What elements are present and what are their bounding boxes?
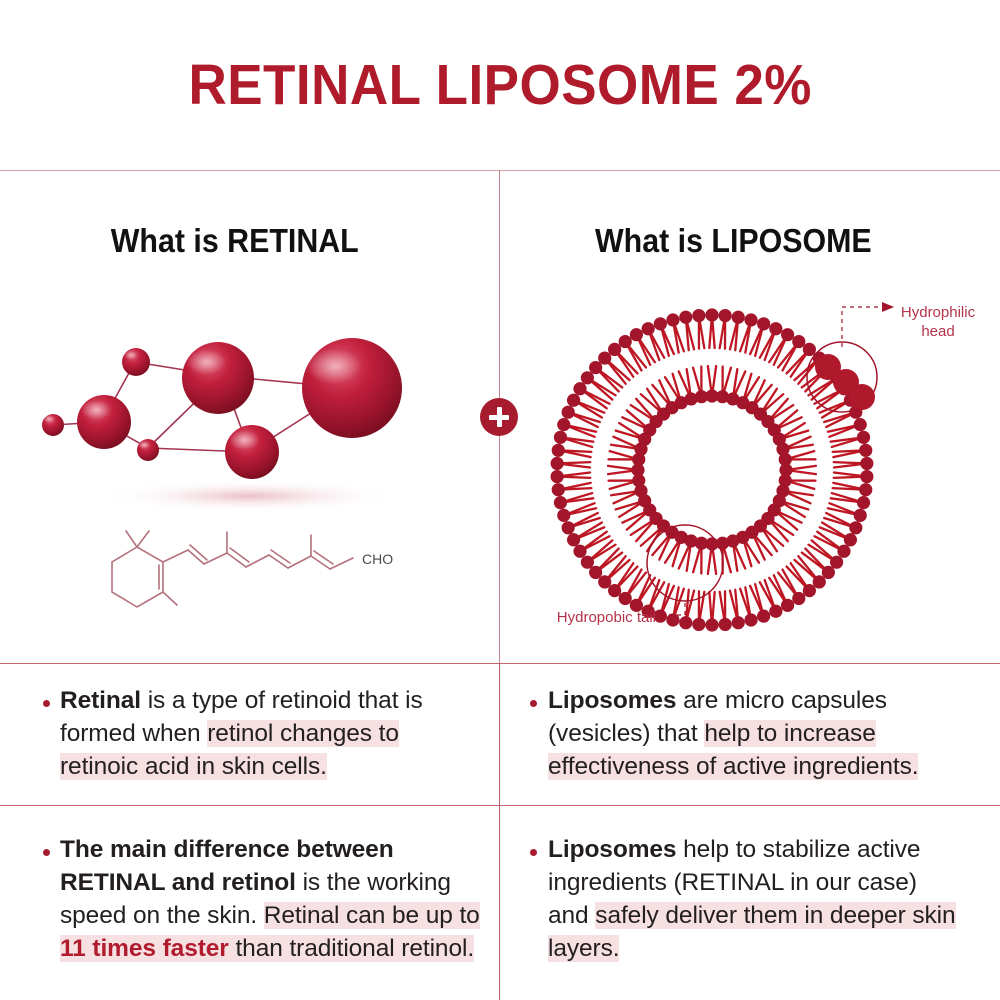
molecule-node-small-1 [42, 414, 64, 436]
retinal-chemical-structure: CHO [100, 520, 420, 615]
infographic-page: RETINAL LIPOSOME 2% What is RETINAL What… [0, 0, 1000, 1000]
fact-right-1-lead: Liposomes [548, 687, 676, 714]
divider-vertical-bottom [499, 805, 500, 1000]
fact-right-1: Liposomes are micro capsules (vesicles) … [548, 684, 968, 783]
divider-vertical-middle [499, 663, 500, 805]
molecule-node-medium-1 [77, 395, 131, 449]
molecule-node-small-3 [137, 439, 159, 461]
fact-left-1: Retinal is a type of retinoid that is fo… [60, 684, 475, 783]
chemical-formula-label: CHO [362, 551, 393, 567]
fact-left-2-highlight-b: than traditional retinol. [229, 935, 474, 962]
bullet-icon [530, 700, 537, 707]
label-hydrophilic-head-line2: head [921, 323, 954, 340]
fact-left-1-lead: Retinal [60, 687, 141, 714]
molecule-node-small-2 [122, 348, 150, 376]
page-title: RETINAL LIPOSOME 2% [188, 52, 811, 118]
retinal-molecule-illustration [20, 300, 480, 530]
callout-hydrophilic-head [842, 307, 882, 347]
plus-bar-vertical [497, 407, 502, 427]
label-hydrophilic-head: Hydrophilic head [893, 303, 983, 341]
magnifier-hydrophobic-tail [647, 525, 723, 601]
heading-what-is-retinal: What is RETINAL [111, 222, 359, 260]
divider-lower [0, 805, 1000, 806]
label-hydrophilic-head-line1: Hydrophilic [901, 304, 975, 321]
divider-middle [0, 663, 1000, 664]
plus-icon [480, 398, 518, 436]
bullet-icon [530, 849, 537, 856]
fact-left-2: The main difference between RETINAL and … [60, 833, 480, 965]
heading-what-is-liposome: What is LIPOSOME [595, 222, 872, 260]
fact-right-2: Liposomes help to stabilize active ingre… [548, 833, 963, 965]
bullet-icon [43, 700, 50, 707]
molecule-node-medium-2 [225, 425, 279, 479]
divider-top [0, 170, 1000, 171]
bullet-icon [43, 849, 50, 856]
label-hydrophobic-tail: Hydropobic tail [536, 608, 656, 627]
fact-left-2-highlight-a: Retinal can be up to [264, 902, 480, 929]
molecule-node-large-2 [302, 338, 402, 438]
molecule-node-large-1 [182, 342, 254, 414]
fact-left-2-emphasis: 11 times faster [60, 935, 229, 962]
fact-right-2-lead: Liposomes [548, 836, 676, 863]
title-bar: RETINAL LIPOSOME 2% [0, 0, 1000, 170]
fact-right-2-highlight: safely deliver them in deeper skin layer… [548, 902, 956, 962]
